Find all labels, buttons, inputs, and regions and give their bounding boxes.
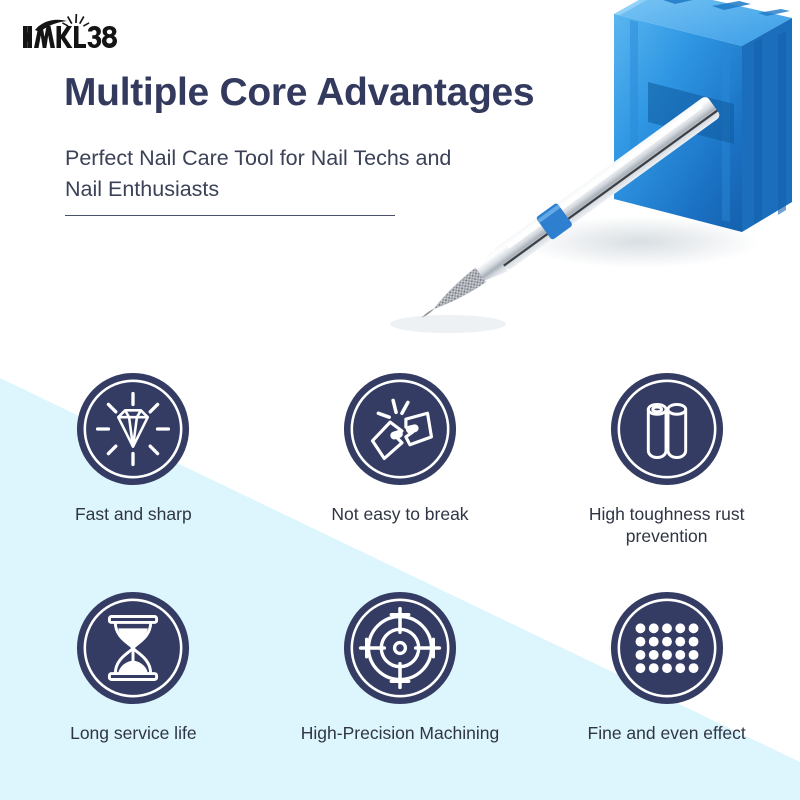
feature-label: High toughness rust prevention xyxy=(562,504,772,548)
metal-rods-icon xyxy=(608,370,726,488)
feature-label: Not easy to break xyxy=(331,504,468,526)
feature-item-high-precision-machining: High-Precision Machining xyxy=(267,581,534,800)
feature-label: Fine and even effect xyxy=(588,723,746,745)
brand-logo xyxy=(18,10,148,60)
feature-item-fine-and-even-effect: Fine and even effect xyxy=(533,581,800,800)
title-divider xyxy=(65,215,395,216)
dot-grid-icon xyxy=(608,589,726,707)
feature-label: High-Precision Machining xyxy=(301,723,499,745)
crosshair-target-icon xyxy=(341,589,459,707)
infographic-canvas: Multiple Core Advantages Perfect Nail Ca… xyxy=(0,0,800,800)
page-subtitle: Perfect Nail Care Tool for Nail Techs an… xyxy=(65,143,485,204)
page-title: Multiple Core Advantages xyxy=(64,72,684,115)
feature-item-fast-and-sharp: Fast and sharp xyxy=(0,362,267,581)
feature-label: Long service life xyxy=(70,723,196,745)
feature-item-long-service-life: Long service life xyxy=(0,581,267,800)
hourglass-icon xyxy=(74,589,192,707)
feature-label: Fast and sharp xyxy=(75,504,192,526)
feature-grid: Fast and sharp xyxy=(0,362,800,800)
cracked-plate-icon xyxy=(341,370,459,488)
shining-diamond-icon xyxy=(74,370,192,488)
feature-item-high-toughness-rust-prevention: High toughness rust prevention xyxy=(533,362,800,581)
feature-item-not-easy-to-break: Not easy to break xyxy=(267,362,534,581)
